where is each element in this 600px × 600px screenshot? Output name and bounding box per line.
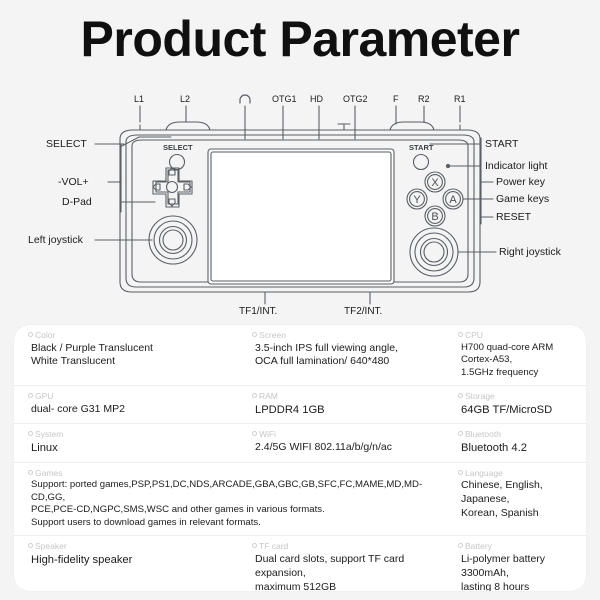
spec-row: System Linux WiFi 2.4/5G WIFI 802.11a/b/… [14,424,586,462]
bullet-icon [458,470,463,475]
spec-cell-bluetooth: Bluetooth Bluetooth 4.2 [444,424,586,461]
spec-value: dual- core G31 MP2 [28,403,232,417]
diagram-label-dpad: D-Pad [62,196,92,208]
spec-label: Storage [458,391,580,402]
diagram-label-otg2: OTG2 [343,94,368,104]
diagram-label-right-joystick: Right joystick [499,246,562,258]
spec-label: Games [28,468,438,479]
specifications-card: Color Black / Purple Translucent White T… [14,325,586,591]
bullet-icon [28,332,33,337]
spec-cell-screen: Screen 3.5-inch IPS full viewing angle, … [238,325,444,385]
diagram-label-r2: R2 [418,94,430,104]
spec-value: H700 quad-core ARM Cortex-A53, 1.5GHz fr… [458,342,580,379]
diagram-label-hd: HD [310,94,323,104]
spec-value: 2.4/5G WIFI 802.11a/b/g/n/ac [252,441,438,455]
diagram-label-vol: -VOL+ [58,176,89,188]
bullet-icon [458,393,463,398]
spec-row: Speaker High-fidelity speaker TF card Du… [14,536,586,591]
spec-cell-speaker: Speaker High-fidelity speaker [14,536,238,591]
bullet-icon [28,543,33,548]
diagram-label-select: SELECT [46,138,87,150]
product-parameter-page: Product Parameter [0,0,600,600]
spec-row: Games Support: ported games,PSP,PS1,DC,N… [14,463,586,537]
spec-value: Linux [28,441,232,456]
spec-row: Color Black / Purple Translucent White T… [14,325,586,386]
diagram-label-left-joystick: Left joystick [28,234,84,246]
device-select-print: SELECT [163,143,193,152]
spec-value: High-fidelity speaker [28,553,232,568]
spec-cell-tf-card: TF card Dual card slots, support TF card… [238,536,444,591]
spec-label: Speaker [28,541,232,552]
spec-row: GPU dual- core G31 MP2 RAM LPDDR4 1GB St… [14,386,586,424]
device-button-b: B [431,211,438,223]
spec-value: LPDDR4 1GB [252,403,438,418]
device-button-a: A [449,194,457,206]
diagram-label-l2: L2 [180,94,190,104]
spec-value: Support: ported games,PSP,PS1,DC,NDS,ARC… [28,479,438,529]
diagram-label-otg1: OTG1 [272,94,297,104]
diagram-label-game-keys: Game keys [496,193,549,205]
device-button-x: X [431,177,439,189]
spec-label: Color [28,330,232,341]
bullet-icon [28,431,33,436]
device-button-y: Y [413,194,421,206]
spec-cell-system: System Linux [14,424,238,461]
spec-value: Chinese, English, Japanese, Korean, Span… [458,479,580,521]
spec-cell-gpu: GPU dual- core G31 MP2 [14,386,238,423]
diagram-label-l1: L1 [134,94,144,104]
device-start-print: START [409,143,434,152]
spec-cell-language: Language Chinese, English, Japanese, Kor… [444,463,586,536]
bullet-icon [252,431,257,436]
spec-value: 3.5-inch IPS full viewing angle, OCA ful… [252,342,438,370]
spec-value: Black / Purple Translucent White Translu… [28,342,232,370]
spec-value: Bluetooth 4.2 [458,441,580,456]
spec-label: System [28,429,232,440]
bullet-icon [28,470,33,475]
spec-label: Language [458,468,580,479]
spec-label: RAM [252,391,438,402]
bullet-icon [458,332,463,337]
diagram-label-start: START [485,138,519,150]
diagram-label-tf1: TF1/INT. [239,306,277,317]
spec-value: 64GB TF/MicroSD [458,403,580,418]
spec-label: Screen [252,330,438,341]
spec-label: TF card [252,541,438,552]
spec-cell-ram: RAM LPDDR4 1GB [238,386,444,423]
spec-cell-color: Color Black / Purple Translucent White T… [14,325,238,385]
diagram-label-tf2: TF2/INT. [344,306,382,317]
spec-label: GPU [28,391,232,402]
diagram-label-f: F [393,94,399,104]
spec-value: Dual card slots, support TF card expansi… [252,553,438,591]
spec-cell-storage: Storage 64GB TF/MicroSD [444,386,586,423]
page-title: Product Parameter [0,14,600,64]
spec-label: WiFi [252,429,438,440]
spec-label: Bluetooth [458,429,580,440]
bullet-icon [252,332,257,337]
diagram-label-r1: R1 [454,94,466,104]
spec-cell-games: Games Support: ported games,PSP,PS1,DC,N… [14,463,444,536]
bullet-icon [252,393,257,398]
spec-label: CPU [458,330,580,341]
bullet-icon [28,393,33,398]
diagram-label-reset: RESET [496,211,532,223]
bullet-icon [252,543,257,548]
bullet-icon [458,431,463,436]
spec-label: Battery [458,541,580,552]
bullet-icon [458,543,463,548]
spec-cell-battery: Battery Li-polymer battery 3300mAh, last… [444,536,586,591]
handheld-console-diagram: L1 L2 OTG1 HD OTG2 F R2 R1 SELECT -VOL+ … [0,92,600,317]
spec-value: Li-polymer battery 3300mAh, lasting 8 ho… [458,553,580,591]
spec-cell-wifi: WiFi 2.4/5G WIFI 802.11a/b/g/n/ac [238,424,444,461]
diagram-label-power-key: Power key [496,176,546,188]
spec-cell-cpu: CPU H700 quad-core ARM Cortex-A53, 1.5GH… [444,325,586,385]
diagram-label-indicator-light: Indicator light [485,160,548,172]
